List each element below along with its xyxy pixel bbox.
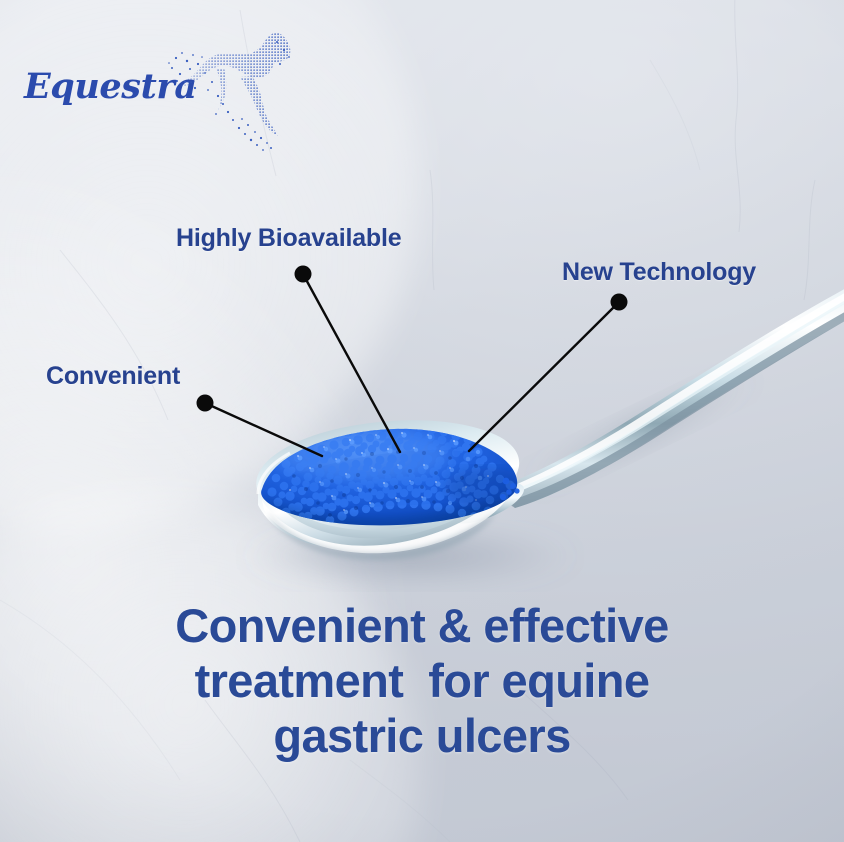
callout-label-highly-bioavailable: Highly Bioavailable bbox=[176, 224, 401, 253]
headline-text: Convenient & effective treatment for equ… bbox=[0, 598, 844, 763]
leader-dot-bioavailable bbox=[295, 266, 312, 283]
advertisement-canvas: Equestra bbox=[0, 0, 844, 842]
leader-line-newtech bbox=[469, 302, 619, 451]
callout-label-convenient: Convenient bbox=[46, 362, 180, 391]
leader-dot-newtech bbox=[611, 294, 628, 311]
leader-line-convenient bbox=[205, 403, 322, 456]
leader-dot-convenient bbox=[197, 395, 214, 412]
callout-label-new-technology: New Technology bbox=[562, 258, 756, 287]
leader-line-bioavailable bbox=[303, 274, 400, 452]
